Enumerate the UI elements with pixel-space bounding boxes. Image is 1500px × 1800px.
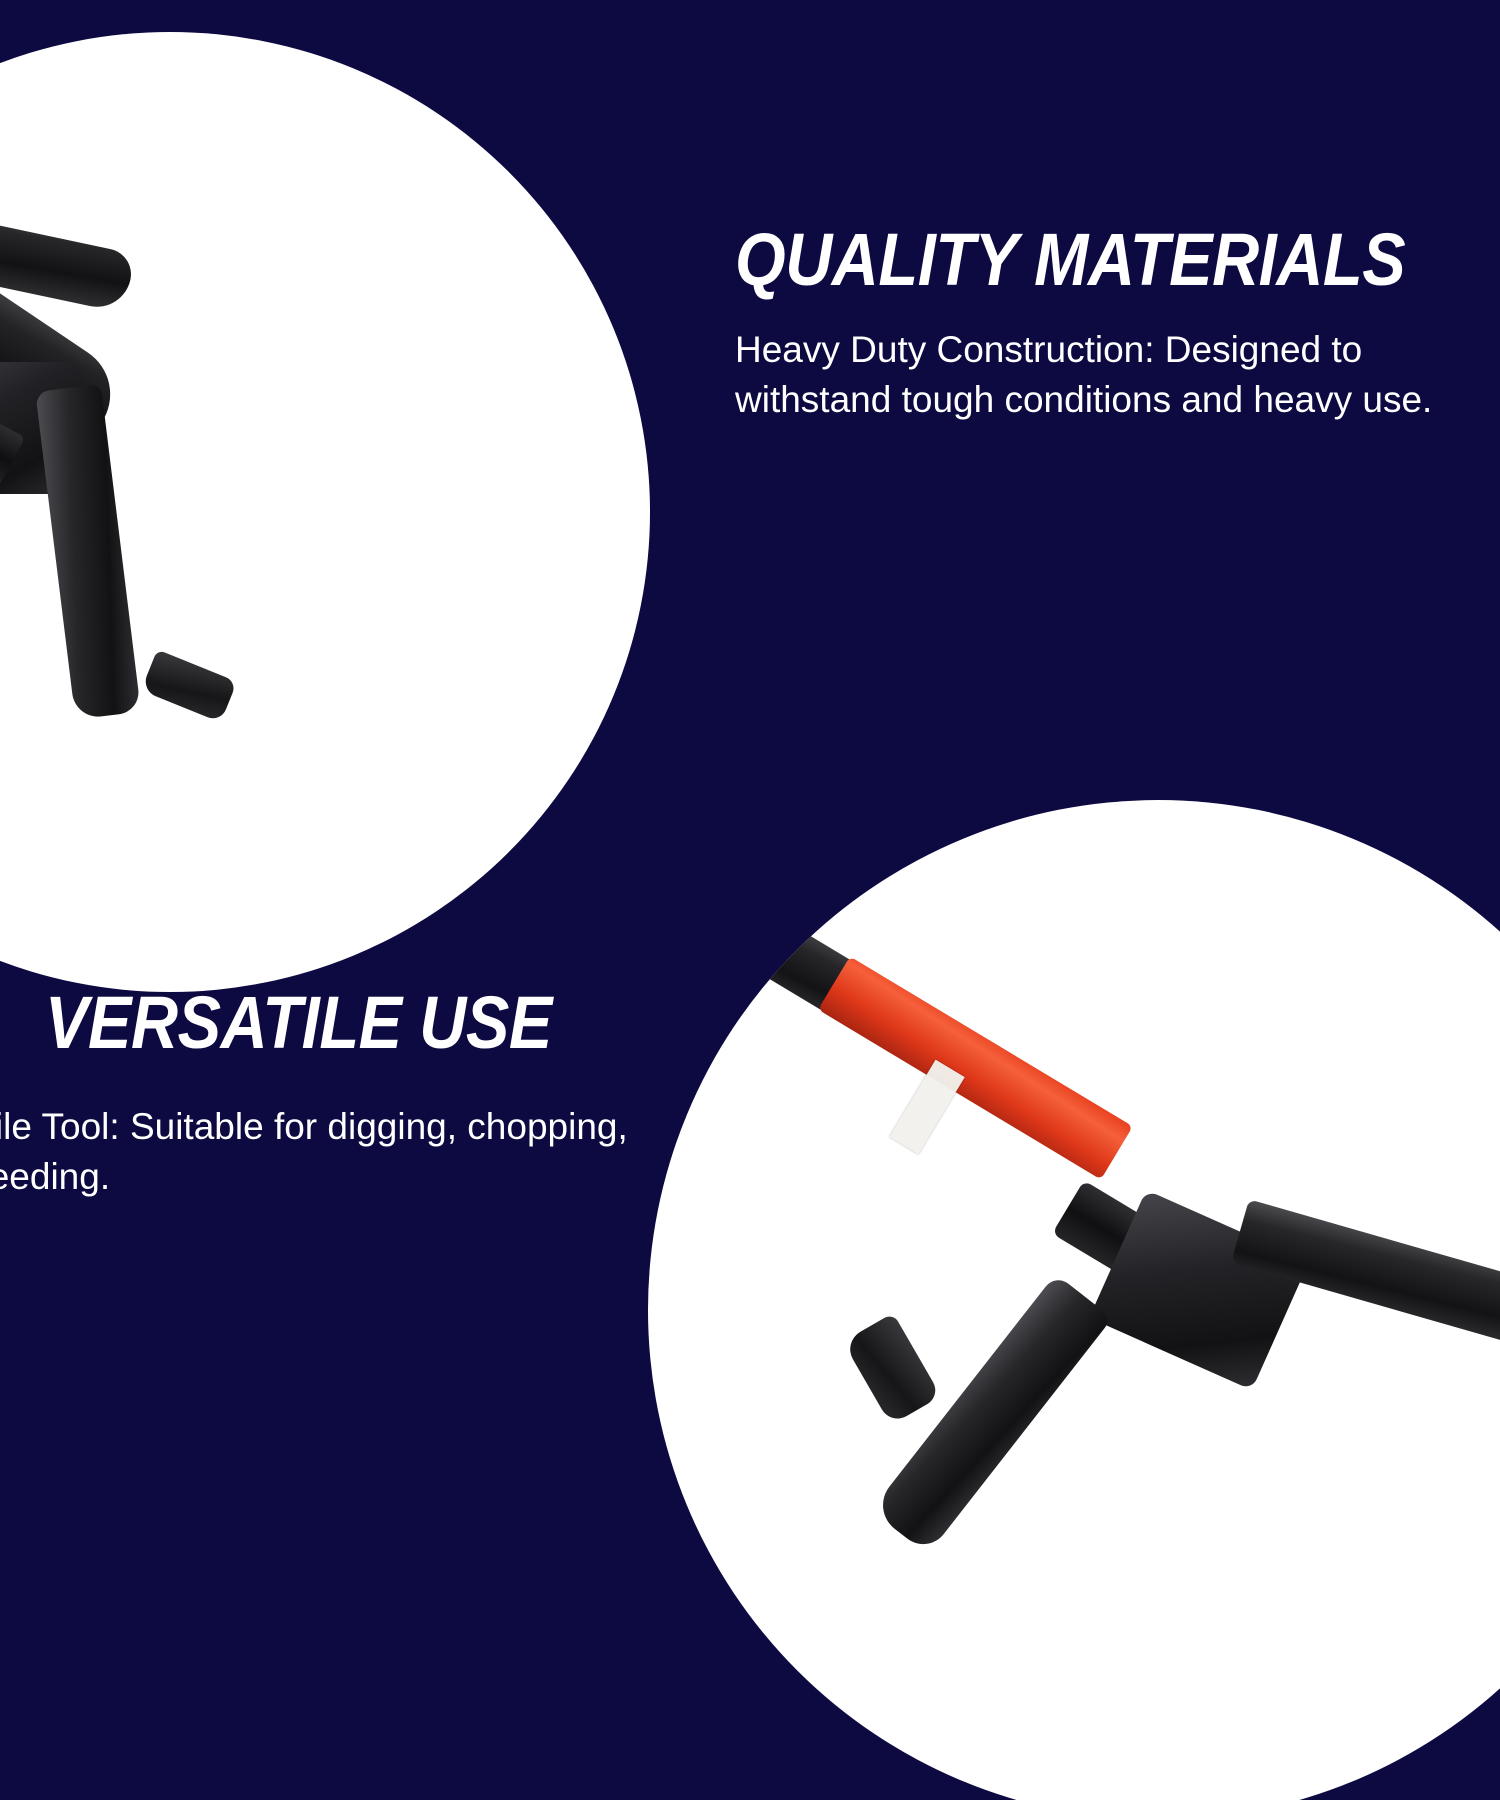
pick-axe-illustration-top: 800 5 101427 095011 [0,32,650,992]
handle-label [889,1060,964,1155]
steel-highlight [649,800,816,837]
feature-heading-versatile-use: VERSATILE USE [45,985,577,1060]
feature-heading-quality-materials: QUALITY MATERIALS [735,222,1492,297]
product-feature-poster: 800 5 101427 095011 [0,0,1500,1800]
pick-axe-illustration-bottom [648,800,1500,1800]
feature-block-versatile-use: VERSATILE USE Versatile Tool: Suitable f… [0,985,650,1202]
product-photo-pick-axe-full [648,800,1500,1800]
pick-arm [0,155,136,313]
feature-body-versatile-use: Versatile Tool: Suitable for digging, ch… [0,1102,650,1201]
feature-body-quality-materials: Heavy Duty Construction: Designed to wit… [735,325,1495,424]
adze-tip [141,649,237,722]
adze-tip [843,1313,941,1425]
red-handle-grip [818,956,1133,1179]
adze-blade [35,384,141,720]
product-photo-pick-axe-head: 800 5 101427 095011 [0,32,650,992]
feature-block-quality-materials: QUALITY MATERIALS Heavy Duty Constructio… [735,222,1500,425]
